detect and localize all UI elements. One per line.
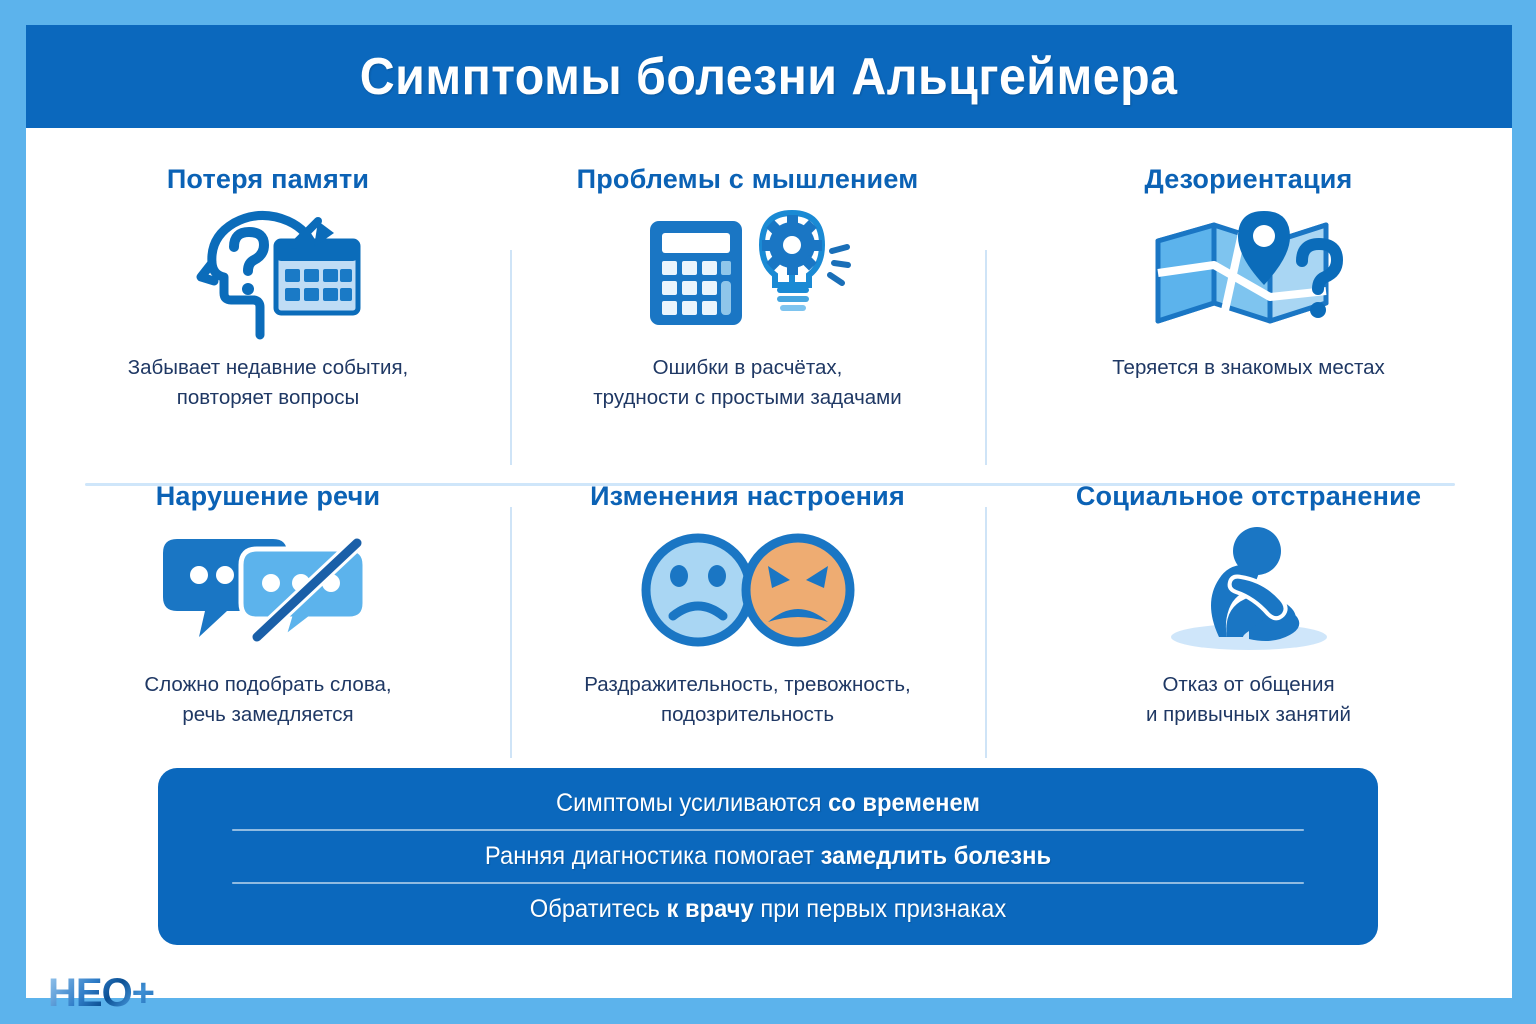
symptom-row-2: Нарушение речи bbox=[26, 473, 1512, 773]
symptom-description: Раздражительность, тревожность, подозрит… bbox=[584, 670, 910, 731]
divider-horizontal bbox=[85, 483, 1455, 486]
symptom-title: Дезориентация bbox=[1144, 164, 1352, 195]
head-question-calendar-icon bbox=[168, 197, 368, 349]
key-message-line: Обратитесь к врачу при первых признаках bbox=[232, 882, 1304, 935]
poster-root: Симптомы болезни Альцгеймера Потеря памя… bbox=[0, 0, 1536, 1024]
symptom-title: Проблемы с мышлением bbox=[577, 164, 919, 195]
person-sitting-alone-icon bbox=[1149, 514, 1349, 666]
symptom-description: Забывает недавние события, повторяет воп… bbox=[128, 353, 409, 414]
key-messages-panel: Симптомы усиливаются со временем Ранняя … bbox=[158, 768, 1378, 945]
symptom-card-thinking-problems[interactable]: Проблемы с мышлением bbox=[510, 156, 985, 456]
symptom-card-social-withdrawal[interactable]: Социальное отстранение bbox=[985, 473, 1512, 773]
key-message-bold: со временем bbox=[828, 789, 980, 817]
divider-vertical-3 bbox=[510, 507, 512, 758]
symptom-card-speech-impairment[interactable]: Нарушение речи bbox=[26, 473, 510, 773]
key-message-line: Симптомы усиливаются со временем bbox=[232, 778, 1304, 829]
symptom-description: Ошибки в расчётах, трудности с простыми … bbox=[593, 353, 901, 414]
symptom-row-1: Потеря памяти bbox=[26, 156, 1512, 456]
symptom-grid: Потеря памяти bbox=[26, 128, 1512, 768]
key-message-plain-suffix: при первых признаках bbox=[754, 895, 1007, 923]
page-title: Симптомы болезни Альцгеймера bbox=[360, 47, 1178, 107]
key-message-plain-prefix: Обратитесь bbox=[530, 895, 667, 923]
key-message-line: Ранняя диагностика помогает замедлить бо… bbox=[232, 829, 1304, 882]
brand-logo: НЕО+ bbox=[48, 973, 154, 1013]
symptom-card-disorientation[interactable]: Дезориентация bbox=[985, 156, 1512, 456]
key-message-plain-prefix: Симптомы усиливаются bbox=[556, 789, 828, 817]
symptom-description: Теряется в знакомых местах bbox=[1112, 353, 1385, 383]
symptom-card-mood-changes[interactable]: Изменения настроения bbox=[510, 473, 985, 773]
symptom-description: Сложно подобрать слова, речь замедляется bbox=[144, 670, 391, 731]
speech-bubbles-slash-icon bbox=[161, 514, 376, 666]
divider-vertical-4 bbox=[985, 507, 987, 758]
map-pin-question-icon bbox=[1146, 197, 1351, 349]
key-message-plain-prefix: Ранняя диагностика помогает bbox=[485, 842, 821, 870]
key-message-bold: замедлить болезнь bbox=[821, 842, 1051, 870]
poster-card: Симптомы болезни Альцгеймера Потеря памя… bbox=[26, 25, 1512, 998]
symptom-description: Отказ от общения и привычных занятий bbox=[1146, 670, 1351, 731]
poster-header: Симптомы болезни Альцгеймера bbox=[26, 25, 1512, 128]
key-message-bold: к врачу bbox=[667, 895, 754, 923]
sad-angry-faces-icon bbox=[640, 514, 855, 666]
divider-vertical-2 bbox=[985, 250, 987, 465]
symptom-card-memory-loss[interactable]: Потеря памяти bbox=[26, 156, 510, 456]
symptom-title: Потеря памяти bbox=[167, 164, 369, 195]
calculator-lightbulb-gear-icon bbox=[640, 197, 855, 349]
divider-vertical-1 bbox=[510, 250, 512, 465]
